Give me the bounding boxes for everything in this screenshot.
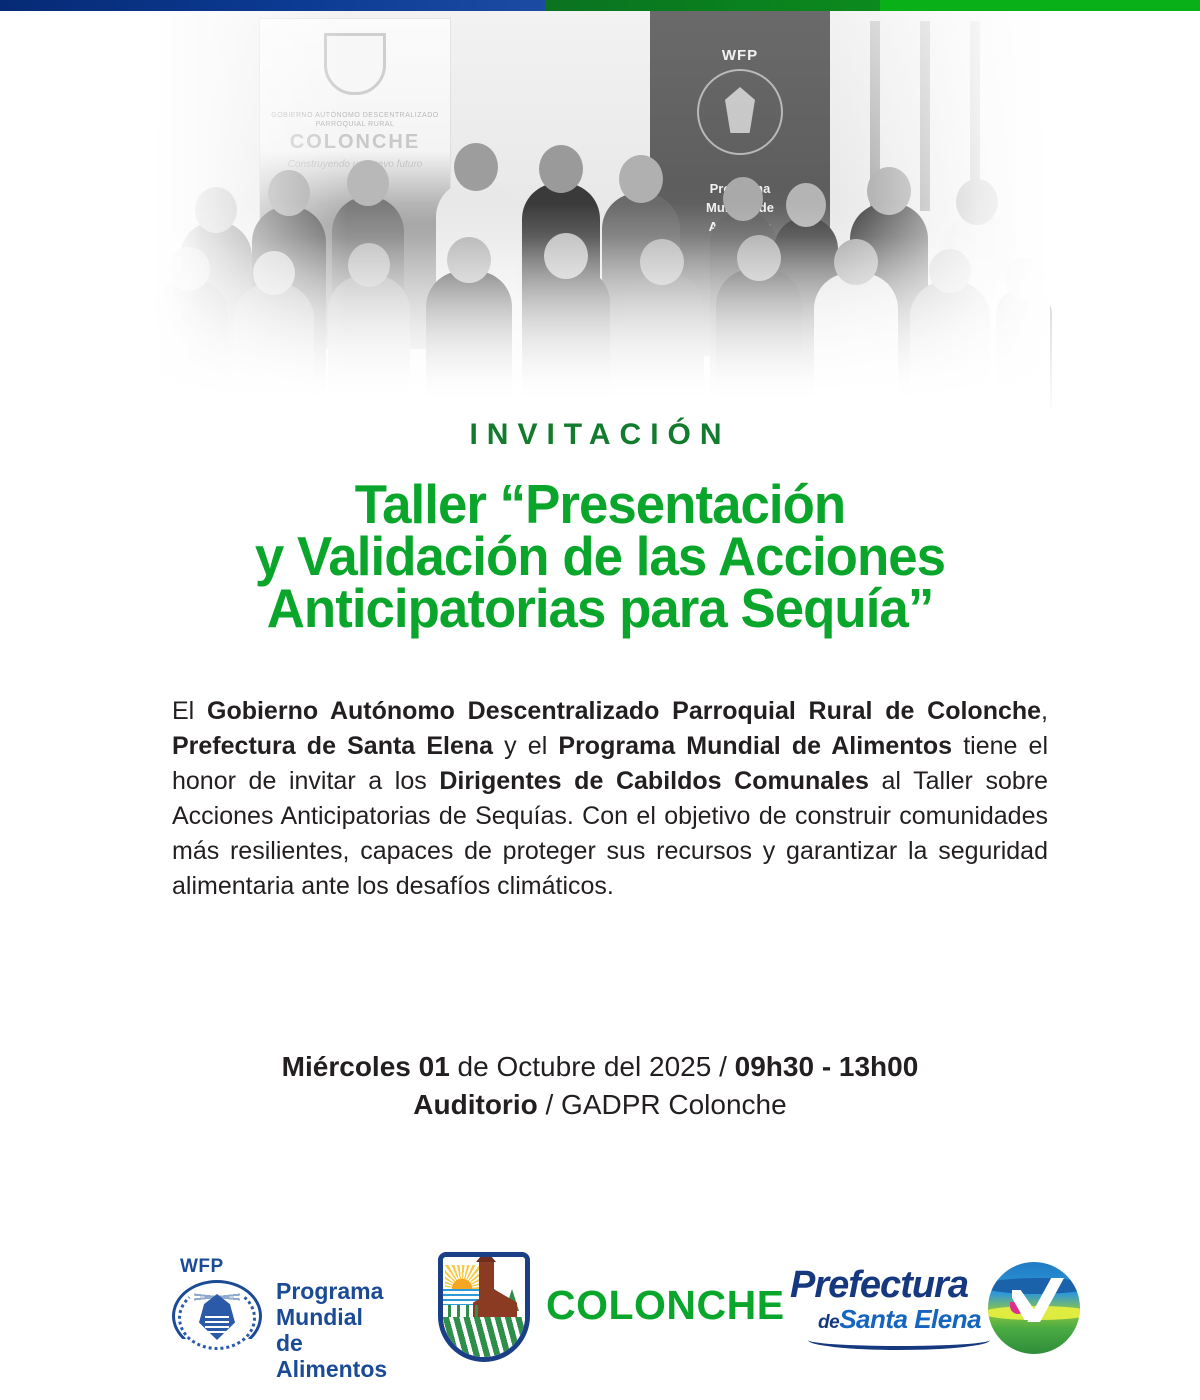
body-run-7: Dirigentes de Cabildos Comunales xyxy=(439,767,869,795)
top-bar-segment-dark-green xyxy=(545,0,880,11)
top-bar-segment-blue xyxy=(0,0,545,11)
prefectura-line-1: Prefectura xyxy=(790,1264,968,1307)
body-run-3: Prefectura de Santa Elena xyxy=(172,732,493,760)
event-time: 09h30 - 13h00 xyxy=(735,1051,919,1082)
title-line-2: y Validación de las Acciones xyxy=(24,530,1176,582)
top-color-bar xyxy=(0,0,1200,11)
event-date-time: Miércoles 01 de Octubre del 2025 / 09h30… xyxy=(0,1048,1200,1086)
event-date-bold: Miércoles 01 xyxy=(282,1051,450,1082)
cross-icon xyxy=(485,1252,488,1259)
prefectura-emblem-icon xyxy=(988,1262,1080,1354)
title-line-3: Anticipatorias para Sequía” xyxy=(24,582,1176,634)
body-run-4: y el xyxy=(493,732,558,760)
logo-wfp: WFP Programa Mundial de Alimentos xyxy=(168,1256,398,1366)
page-title: Taller “Presentación y Validación de las… xyxy=(24,478,1176,634)
event-venue: Auditorio / GADPR Colonche xyxy=(0,1086,1200,1124)
colonche-wordmark: COLONCHE xyxy=(546,1282,785,1329)
event-venue-bold: Auditorio xyxy=(413,1089,537,1120)
body-run-0: El xyxy=(172,697,207,725)
event-venue-rest: / GADPR Colonche xyxy=(538,1089,787,1120)
body-run-5: Programa Mundial de Alimentos xyxy=(558,732,952,760)
body-run-1: Gobierno Autónomo Descentralizado Parroq… xyxy=(207,697,1041,725)
wfp-wordmark: Programa Mundial de Alimentos xyxy=(276,1278,398,1382)
group-photo-image: GOBIERNO AUTÓNOMO DESCENTRALIZADO PARROQ… xyxy=(150,11,1050,411)
field-icon xyxy=(443,1317,525,1357)
church-tower-icon xyxy=(479,1261,494,1305)
invitation-body-text: El Gobierno Autónomo Descentralizado Par… xyxy=(172,694,1048,904)
footer-logos: WFP Programa Mundial de Alimentos xyxy=(0,1248,1200,1378)
prefectura-line-2: deSanta Elena xyxy=(818,1304,981,1335)
invitation-eyebrow: INVITACIÓN xyxy=(0,418,1200,452)
top-bar-segment-bright-green xyxy=(880,0,1200,11)
emblem-check-icon xyxy=(1012,1286,1058,1332)
event-date-rest: de Octubre del 2025 / xyxy=(450,1051,735,1082)
event-details: Miércoles 01 de Octubre del 2025 / 09h30… xyxy=(0,1048,1200,1124)
wfp-name-line-3: de Alimentos xyxy=(276,1330,387,1382)
wfp-acronym: WFP xyxy=(180,1256,224,1278)
logo-prefectura-santa-elena: Prefectura deSanta Elena xyxy=(790,1260,1080,1364)
colonche-shield-icon xyxy=(438,1252,530,1362)
wfp-name-line-2: Mundial xyxy=(276,1304,363,1330)
photo-fade-overlay xyxy=(150,11,1050,411)
invitation-poster: GOBIERNO AUTÓNOMO DESCENTRALIZADO PARROQ… xyxy=(0,0,1200,1400)
wfp-emblem-icon xyxy=(168,1278,266,1356)
prefectura-de: de xyxy=(818,1312,839,1333)
prefectura-santa-elena: Santa Elena xyxy=(839,1304,981,1334)
logo-colonche: COLONCHE xyxy=(438,1250,738,1372)
prefectura-swoosh-icon xyxy=(808,1338,990,1350)
wfp-name-line-1: Programa xyxy=(276,1278,383,1304)
title-line-1: Taller “Presentación xyxy=(24,478,1176,530)
hero-photo: GOBIERNO AUTÓNOMO DESCENTRALIZADO PARROQ… xyxy=(0,11,1200,421)
body-run-2: , xyxy=(1041,697,1048,725)
